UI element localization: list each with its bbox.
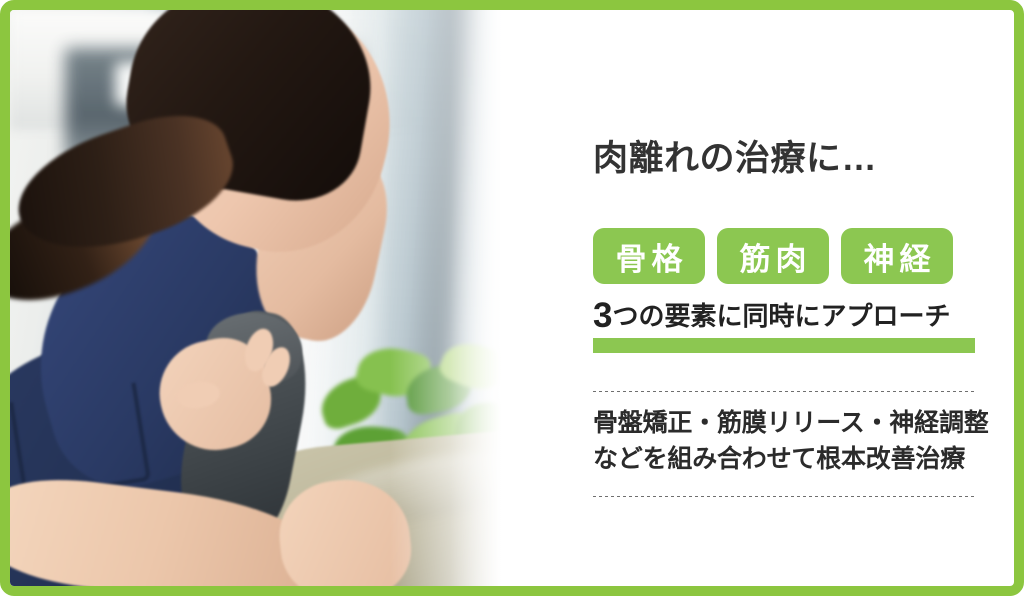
description: 骨盤矯正・筋膜リリース・神経調整 などを組み合わせて根本改善治療: [593, 406, 978, 477]
tagline-text: つの要素に同時にアプローチ: [612, 301, 950, 331]
divider-bottom: [593, 496, 975, 497]
badge-nerve: 神経: [841, 228, 953, 284]
tagline-highlight-bar: [593, 338, 975, 353]
description-line-2: などを組み合わせて根本改善治療: [593, 442, 978, 478]
promo-banner: 肉離れの治療に… 骨格 筋肉 神経 3つの要素に同時にアプローチ 骨盤矯正・筋膜…: [0, 0, 1024, 596]
tagline-number: 3: [593, 296, 612, 335]
tagline-block: 3つの要素に同時にアプローチ: [593, 298, 975, 333]
description-line-1: 骨盤矯正・筋膜リリース・神経調整: [593, 406, 978, 442]
badge-muscle: 筋肉: [717, 228, 829, 284]
banner-content: 肉離れの治療に… 骨格 筋肉 神経 3つの要素に同時にアプローチ 骨盤矯正・筋膜…: [583, 10, 1024, 586]
approach-badge-group: 骨格 筋肉 神経: [593, 228, 953, 284]
headline: 肉離れの治療に…: [593, 130, 877, 181]
divider-top: [593, 391, 975, 392]
tagline: 3つの要素に同時にアプローチ: [593, 298, 975, 333]
therapist-photo: [10, 10, 570, 586]
photo-right-fade: [450, 10, 570, 586]
badge-skeleton: 骨格: [593, 228, 705, 284]
